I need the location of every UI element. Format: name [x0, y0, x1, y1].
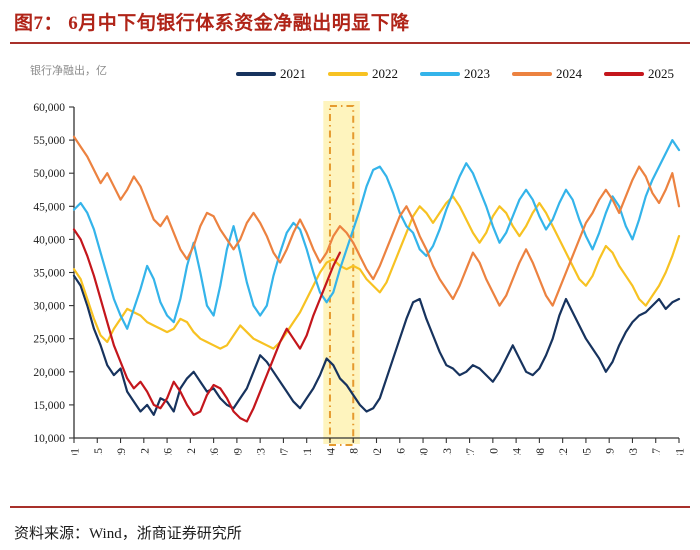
x-tick-label: 10-22	[558, 448, 570, 455]
y-tick-label: 10,000	[33, 433, 65, 445]
x-tick-label: 07-30	[419, 448, 431, 455]
source-note: 资料来源：Wind，浙商证券研究所	[14, 522, 242, 543]
y-tick-label: 15,000	[33, 400, 65, 412]
chart-canvas: 10,00015,00020,00025,00030,00035,00040,0…	[0, 95, 700, 455]
x-tick-label: 07-16	[395, 448, 407, 455]
x-tick-label: 04-23	[256, 448, 268, 455]
x-tick-label: 02-12	[139, 448, 151, 455]
x-tick-label: 12-31	[675, 448, 687, 455]
y-tick-label: 20,000	[33, 367, 65, 379]
legend-label-2021: 2021	[280, 66, 306, 82]
legend-swatch-2023	[420, 72, 460, 76]
figure-root: 图7： 6月中下旬银行体系资金净融出明显下降 银行净融出，亿 202120222…	[0, 0, 700, 550]
x-tick-label: 06-18	[349, 448, 361, 455]
x-tick-label: 01-15	[93, 448, 105, 455]
series-line-2024	[74, 137, 679, 306]
x-tick-label: 02-26	[163, 448, 175, 455]
x-tick-label: 09-24	[512, 448, 524, 455]
legend-item-2022[interactable]: 2022	[328, 66, 398, 82]
line-chart: 10,00015,00020,00025,00030,00035,00040,0…	[0, 95, 700, 455]
legend-swatch-2024	[512, 72, 552, 76]
y-tick-label: 30,000	[33, 301, 65, 313]
legend-item-2023[interactable]: 2023	[420, 66, 490, 82]
y-tick-label: 40,000	[33, 234, 65, 246]
x-tick-label: 01-29	[116, 448, 128, 455]
y-tick-label: 60,000	[33, 102, 65, 114]
legend-swatch-2021	[236, 72, 276, 76]
x-tick-label: 05-07	[279, 448, 291, 455]
legend-item-2025[interactable]: 2025	[604, 66, 674, 82]
legend-label-2024: 2024	[556, 66, 582, 82]
x-tick-label: 05-21	[302, 448, 314, 455]
legend-label-2025: 2025	[648, 66, 674, 82]
x-tick-label: 09-10	[488, 448, 500, 455]
source-divider-bottom	[10, 506, 690, 508]
x-tick-label: 07-02	[372, 448, 384, 455]
x-tick-label: 11-05	[581, 448, 593, 455]
y-tick-label: 50,000	[33, 168, 65, 180]
x-tick-label: 11-19	[605, 448, 617, 455]
title-divider-top	[10, 42, 690, 44]
y-axis-unit-label: 银行净融出，亿	[30, 62, 107, 78]
chart-legend: 20212022202320242025	[236, 66, 674, 82]
x-tick-label: 06-04	[325, 448, 337, 455]
x-tick-label: 03-12	[186, 448, 198, 455]
figure-title: 图7： 6月中下旬银行体系资金净融出明显下降	[14, 8, 410, 35]
x-tick-label: 01-01	[70, 448, 82, 455]
x-tick-label: 12-17	[651, 448, 663, 455]
y-tick-label: 35,000	[33, 268, 65, 280]
x-tick-label: 10-08	[535, 448, 547, 455]
legend-label-2023: 2023	[464, 66, 490, 82]
x-tick-label: 08-13	[442, 448, 454, 455]
series-line-2021	[74, 276, 679, 415]
legend-swatch-2025	[604, 72, 644, 76]
legend-swatch-2022	[328, 72, 368, 76]
x-tick-label: 04-09	[232, 448, 244, 455]
legend-item-2024[interactable]: 2024	[512, 66, 582, 82]
y-tick-label: 25,000	[33, 334, 65, 346]
x-tick-label: 12-03	[628, 448, 640, 455]
y-tick-label: 55,000	[33, 135, 65, 147]
y-tick-label: 45,000	[33, 201, 65, 213]
x-tick-label: 08-27	[465, 448, 477, 455]
highlight-band	[323, 101, 360, 444]
legend-item-2021[interactable]: 2021	[236, 66, 306, 82]
x-tick-label: 03-26	[209, 448, 221, 455]
series-line-2023	[74, 140, 679, 329]
legend-label-2022: 2022	[372, 66, 398, 82]
